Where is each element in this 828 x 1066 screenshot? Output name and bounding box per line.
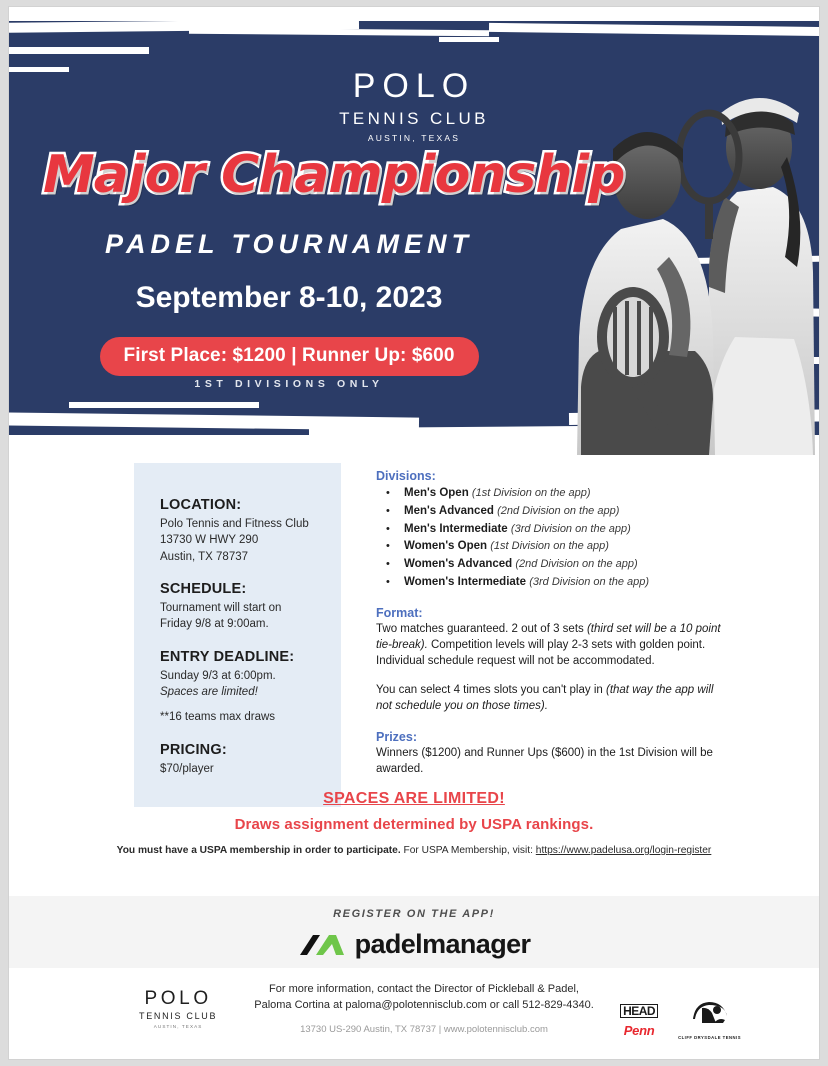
- entry-deadline-label: ENTRY DEADLINE:: [160, 649, 319, 665]
- list-item: Men's Open (1st Division on the app): [380, 485, 726, 503]
- schedule-label: SCHEDULE:: [160, 581, 319, 597]
- schedule-line-1: Tournament will start on: [160, 600, 319, 616]
- hero-banner: POLO TENNIS CLUB AUSTIN, TEXAS Major Cha…: [9, 7, 819, 455]
- prize-badge-container: First Place: $1200 | Runner Up: $600: [9, 337, 819, 376]
- polo-tennis-club-logo: POLO TENNIS CLUB AUSTIN, TEXAS: [9, 69, 819, 143]
- penn-wordmark: Penn: [620, 1023, 658, 1038]
- max-draws-note: **16 teams max draws: [160, 709, 319, 725]
- register-app-band: REGISTER ON THE APP! padelmanager: [9, 896, 819, 968]
- contact-line-2: Paloma Cortina at paloma@polotennisclub.…: [239, 998, 609, 1014]
- cliff-drysdale-logo: CLIFF DRYSDALE TENNIS: [678, 999, 741, 1040]
- footer-address: 13730 US-290 Austin, TX 78737 | www.polo…: [239, 1024, 609, 1035]
- padelmanager-wordmark: padelmanager: [355, 929, 531, 960]
- list-item: Women's Intermediate (3rd Division on th…: [380, 574, 726, 592]
- event-info-box: LOCATION: Polo Tennis and Fitness Club 1…: [134, 463, 341, 807]
- division-name: Women's Intermediate: [404, 576, 526, 588]
- logo-city: AUSTIN, TEXAS: [9, 134, 819, 143]
- list-item: Women's Open (1st Division on the app): [380, 538, 726, 556]
- footer-logo-word: POLO: [139, 989, 217, 1008]
- entry-deadline-value: Sunday 9/3 at 6:00pm.: [160, 668, 319, 684]
- page-title: Major Championship: [43, 145, 624, 205]
- footer-polo-logo: POLO TENNIS CLUB AUSTIN, TEXAS: [139, 989, 217, 1030]
- register-app-title: REGISTER ON THE APP!: [9, 908, 819, 920]
- uspa-visit-text: For USPA Membership, visit:: [401, 845, 536, 856]
- sponsor-logos: HEAD Penn CLIFF DRYSDALE TENNIS: [620, 999, 741, 1040]
- cliff-drysdale-caption: CLIFF DRYSDALE TENNIS: [678, 1035, 741, 1040]
- uspa-membership-line: You must have a USPA membership in order…: [9, 845, 819, 856]
- divisions-only-note: 1ST DIVISIONS ONLY: [9, 378, 819, 390]
- pricing-value: $70/player: [160, 761, 319, 777]
- division-name: Women's Open: [404, 540, 487, 552]
- timeslot-text-a: You can select 4 times slots you can't p…: [376, 684, 606, 696]
- spaces-limited-note: Spaces are limited!: [160, 684, 319, 700]
- uspa-requirement-text: You must have a USPA membership in order…: [117, 845, 401, 856]
- division-name: Women's Advanced: [404, 558, 512, 570]
- division-note: (1st Division on the app): [472, 487, 591, 499]
- division-name: Men's Open: [404, 487, 469, 499]
- prize-badge: First Place: $1200 | Runner Up: $600: [100, 337, 479, 376]
- flyer-page: POLO TENNIS CLUB AUSTIN, TEXAS Major Cha…: [8, 6, 820, 1060]
- list-item: Men's Advanced (2nd Division on the app): [380, 503, 726, 521]
- schedule-line-2: Friday 9/8 at 9:00am.: [160, 616, 319, 632]
- footer-contact: For more information, contact the Direct…: [239, 982, 609, 1035]
- location-line-3: Austin, TX 78737: [160, 549, 319, 565]
- details-section: LOCATION: Polo Tennis and Fitness Club 1…: [9, 455, 819, 895]
- divisions-heading: Divisions:: [376, 469, 726, 483]
- prizes-text: Winners ($1200) and Runner Ups ($600) in…: [376, 746, 726, 778]
- location-label: LOCATION:: [160, 497, 319, 513]
- format-paragraph-1: Two matches guaranteed. 2 out of 3 sets …: [376, 622, 726, 670]
- pricing-label: PRICING:: [160, 742, 319, 758]
- draws-assignment-text: Draws assignment determined by USPA rank…: [9, 816, 819, 833]
- padelmanager-mark-icon: [298, 931, 346, 959]
- footer-logo-city: AUSTIN, TEXAS: [139, 1025, 217, 1030]
- logo-word: POLO: [9, 69, 819, 103]
- spaces-limited-heading: SPACES ARE LIMITED!: [9, 790, 819, 808]
- list-item: Women's Advanced (2nd Division on the ap…: [380, 556, 726, 574]
- padelmanager-logo[interactable]: padelmanager: [9, 929, 819, 960]
- division-name: Men's Advanced: [404, 505, 494, 517]
- division-note: (2nd Division on the app): [497, 505, 619, 517]
- event-dates: September 8-10, 2023: [9, 281, 819, 315]
- division-note: (3rd Division on the app): [511, 523, 631, 535]
- contact-line-1: For more information, contact the Direct…: [239, 982, 609, 998]
- logo-subtitle: TENNIS CLUB: [9, 110, 819, 127]
- right-column: Divisions: Men's Open (1st Division on t…: [376, 469, 726, 778]
- uspa-registration-link[interactable]: https://www.padelusa.org/login-register: [536, 845, 712, 856]
- division-note: (3rd Division on the app): [529, 576, 649, 588]
- location-line-1: Polo Tennis and Fitness Club: [160, 516, 319, 532]
- division-name: Men's Intermediate: [404, 523, 508, 535]
- page-footer: POLO TENNIS CLUB AUSTIN, TEXAS For more …: [9, 982, 819, 1060]
- cliff-drysdale-mark-icon: [689, 999, 731, 1029]
- division-note: (2nd Division on the app): [515, 558, 637, 570]
- format-paragraph-2: You can select 4 times slots you can't p…: [376, 683, 726, 715]
- division-note: (1st Division on the app): [490, 540, 609, 552]
- spaces-limited-block: SPACES ARE LIMITED! Draws assignment det…: [9, 790, 819, 833]
- location-line-2: 13730 W HWY 290: [160, 532, 319, 548]
- divisions-list: Men's Open (1st Division on the app) Men…: [380, 485, 726, 592]
- head-wordmark: HEAD: [620, 1004, 658, 1019]
- format-text-a: Two matches guaranteed. 2 out of 3 sets: [376, 623, 587, 635]
- format-heading: Format:: [376, 606, 726, 620]
- hero-subtitle: PADEL TOURNAMENT: [9, 229, 819, 260]
- prizes-heading: Prizes:: [376, 730, 726, 744]
- footer-logo-subtitle: TENNIS CLUB: [139, 1012, 217, 1021]
- list-item: Men's Intermediate (3rd Division on the …: [380, 521, 726, 539]
- head-penn-logo: HEAD Penn: [620, 1002, 658, 1038]
